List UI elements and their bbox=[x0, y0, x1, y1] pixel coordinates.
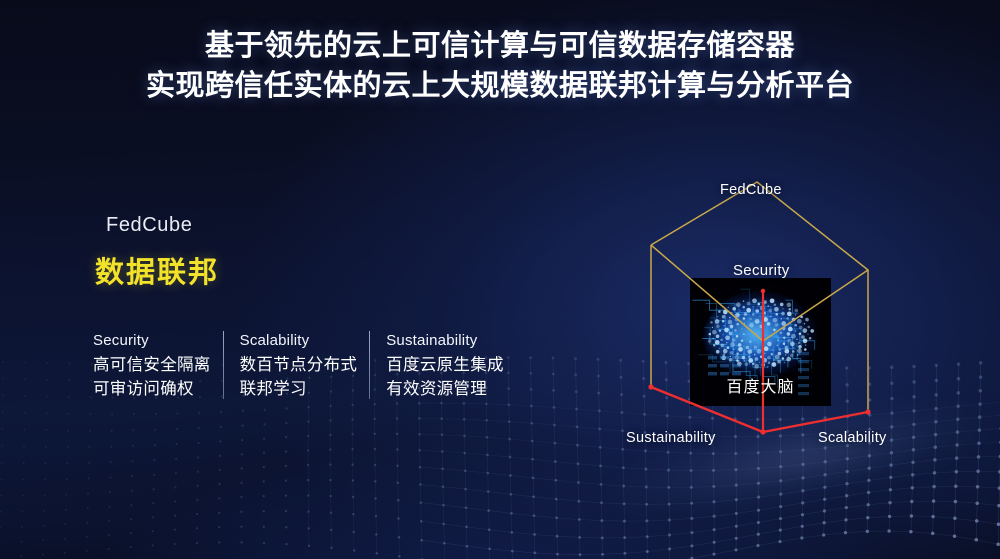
cube-label-security: Security bbox=[733, 262, 790, 279]
cube-label-scalability: Scalability bbox=[818, 430, 887, 446]
cube-wireframe bbox=[600, 160, 1000, 460]
feature-heading: Security bbox=[93, 330, 211, 351]
title-line-1: 基于领先的云上可信计算与可信数据存储容器 bbox=[0, 26, 1000, 66]
brain-image-label: 百度大脑 bbox=[690, 373, 831, 397]
feature-detail-line: 百度云原生集成 bbox=[386, 353, 504, 377]
feature-columns: Security 高可信安全隔离 可审访问确权 Scalability 数百节点… bbox=[93, 330, 516, 401]
feature-column-security: Security 高可信安全隔离 可审访问确权 bbox=[93, 330, 223, 401]
feature-detail-line: 数百节点分布式 bbox=[240, 353, 358, 377]
brand-name-cn: 数据联邦 bbox=[95, 249, 219, 291]
feature-column-scalability: Scalability 数百节点分布式 联邦学习 bbox=[223, 330, 370, 401]
brand-name-en: FedCube bbox=[106, 214, 192, 237]
slide-title: 基于领先的云上可信计算与可信数据存储容器 实现跨信任实体的云上大规模数据联邦计算… bbox=[0, 26, 1000, 106]
title-line-2: 实现跨信任实体的云上大规模数据联邦计算与分析平台 bbox=[0, 66, 1000, 106]
slide-canvas: 基于领先的云上可信计算与可信数据存储容器 实现跨信任实体的云上大规模数据联邦计算… bbox=[0, 0, 1000, 559]
feature-heading: Scalability bbox=[240, 330, 358, 351]
feature-column-sustainability: Sustainability 百度云原生集成 有效资源管理 bbox=[369, 330, 516, 401]
fedcube-diagram: 百度大脑 FedCube Security Sustainability Sca… bbox=[600, 160, 1000, 460]
feature-heading: Sustainability bbox=[386, 330, 504, 351]
feature-detail-line: 可审访问确权 bbox=[93, 377, 211, 401]
feature-detail-line: 有效资源管理 bbox=[386, 377, 504, 401]
feature-detail-line: 联邦学习 bbox=[240, 377, 358, 401]
cube-label-sustainability: Sustainability bbox=[626, 430, 716, 446]
feature-detail-line: 高可信安全隔离 bbox=[93, 353, 211, 377]
cube-label-fedcube: FedCube bbox=[720, 182, 782, 198]
